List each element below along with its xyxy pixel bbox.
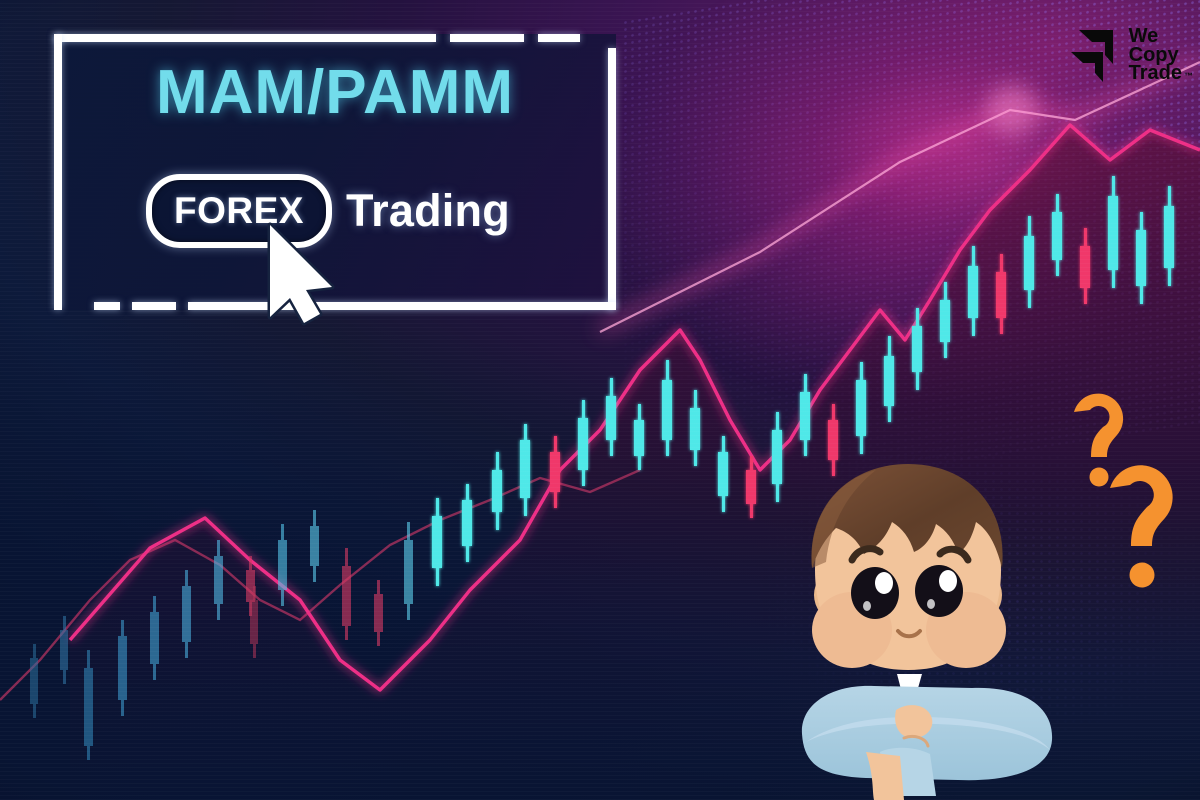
page-title: MAM/PAMM (90, 62, 580, 124)
frame-left-border (54, 34, 62, 310)
frame-top-long-segment (54, 34, 436, 42)
subtitle-trading: Trading (346, 185, 510, 237)
frame-bottom-dash-1 (94, 302, 120, 310)
brand-wordmark: We Copy Trade ™ (1129, 27, 1182, 82)
frame-top-dash-2 (538, 34, 580, 42)
mouse-cursor-icon (264, 221, 338, 327)
confused-thinking-boy-illustration (796, 452, 1096, 800)
frame-right-border (608, 48, 616, 310)
wrist (866, 752, 904, 800)
eye-left (851, 567, 899, 619)
question-mark-icon-large (1110, 465, 1173, 587)
title-card: MAM/PAMM FOREX Trading (46, 26, 624, 318)
frame-bottom-dash-2 (132, 302, 176, 310)
brand-trademark-symbol: ™ (1184, 72, 1193, 80)
double-chevron-arrow-logo-icon (1067, 24, 1121, 86)
glow-beam-hotspot (986, 84, 1038, 136)
frame-bottom-long-segment (188, 302, 616, 310)
banner-canvas: MAM/PAMM FOREX Trading We Copy Trade ™ (0, 0, 1200, 800)
brand-line-3: Trade (1129, 64, 1182, 82)
eye-right (915, 565, 963, 617)
brand-logo[interactable]: We Copy Trade ™ (1067, 24, 1182, 86)
frame-top-dash-1 (450, 34, 524, 42)
